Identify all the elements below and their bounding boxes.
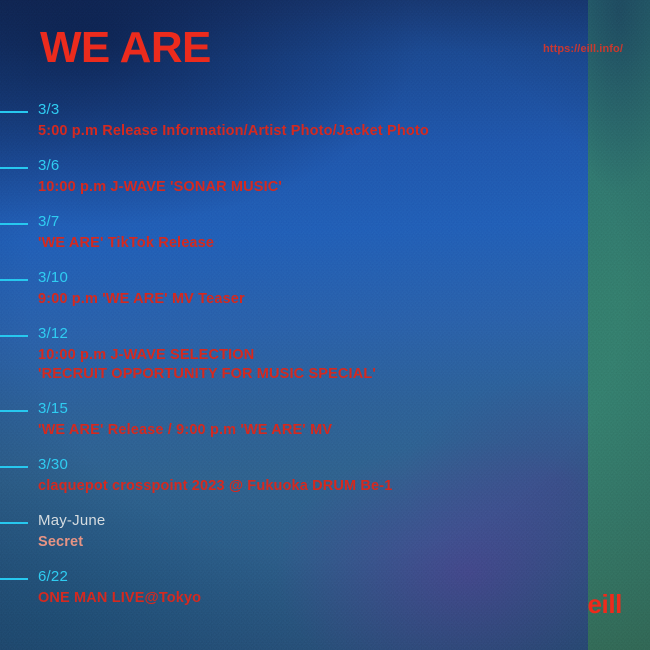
schedule-entry-text: claquepot crosspoint 2023 @ Fukuoka DRUM… — [38, 477, 650, 496]
schedule-entry: 3/109:00 p.m 'WE ARE' MV Teaser — [0, 268, 650, 309]
schedule-entry-lines: 10:00 p.m J-WAVE 'SONAR MUSIC' — [0, 178, 650, 197]
schedule-date: 3/7 — [38, 212, 59, 232]
schedule-entry: 3/30claquepot crosspoint 2023 @ Fukuoka … — [0, 455, 650, 496]
schedule-entry-header: 3/6 — [0, 156, 650, 176]
schedule-entry-lines: Secret — [0, 533, 650, 552]
dash-marker-icon — [0, 111, 28, 113]
schedule-entry: 6/22ONE MAN LIVE@Tokyo — [0, 567, 650, 608]
schedule-date: 3/12 — [38, 324, 68, 344]
schedule-entry-text: 10:00 p.m J-WAVE SELECTION — [38, 346, 650, 365]
schedule-entry-lines: 9:00 p.m 'WE ARE' MV Teaser — [0, 290, 650, 309]
dash-marker-icon — [0, 522, 28, 524]
schedule-entry-text: 'WE ARE' TikTok Release — [38, 234, 650, 253]
schedule-entry-text: Secret — [38, 533, 650, 552]
poster-content: WE ARE https://eill.info/ 3/35:00 p.m Re… — [0, 0, 650, 650]
dash-marker-icon — [0, 167, 28, 169]
schedule-date: 3/15 — [38, 399, 68, 419]
schedule-entry: 3/1210:00 p.m J-WAVE SELECTION'RECRUIT O… — [0, 324, 650, 384]
schedule-entry-text: 'WE ARE' Release / 9:00 p.m 'WE ARE' MV — [38, 421, 650, 440]
dash-marker-icon — [0, 466, 28, 468]
schedule-entry: 3/7'WE ARE' TikTok Release — [0, 212, 650, 253]
dash-marker-icon — [0, 410, 28, 412]
schedule-entry-lines: 10:00 p.m J-WAVE SELECTION'RECRUIT OPPOR… — [0, 346, 650, 384]
schedule-entry-header: 3/3 — [0, 100, 650, 120]
schedule-entry: May-JuneSecret — [0, 511, 650, 552]
schedule-date: 3/30 — [38, 455, 68, 475]
schedule-entry-text: 5:00 p.m Release Information/Artist Phot… — [38, 122, 650, 141]
schedule-entry-lines: ONE MAN LIVE@Tokyo — [0, 589, 650, 608]
schedule-entry-lines: claquepot crosspoint 2023 @ Fukuoka DRUM… — [0, 477, 650, 496]
dash-marker-icon — [0, 578, 28, 580]
schedule-entry-lines: 5:00 p.m Release Information/Artist Phot… — [0, 122, 650, 141]
website-url-link[interactable]: https://eill.info/ — [543, 43, 623, 55]
schedule-date: 3/3 — [38, 100, 59, 120]
schedule-entry: 3/610:00 p.m J-WAVE 'SONAR MUSIC' — [0, 156, 650, 197]
schedule-entry-header: 3/15 — [0, 399, 650, 419]
schedule-entry-header: May-June — [0, 511, 650, 531]
schedule-date: 6/22 — [38, 567, 68, 587]
schedule-entry-header: 3/30 — [0, 455, 650, 475]
dash-marker-icon — [0, 335, 28, 337]
artist-logo: eill — [587, 591, 622, 617]
schedule-date: May-June — [38, 511, 105, 531]
schedule-date: 3/6 — [38, 156, 59, 176]
schedule-list: 3/35:00 p.m Release Information/Artist P… — [0, 100, 650, 623]
schedule-entry-header: 3/12 — [0, 324, 650, 344]
poster-canvas: WE ARE https://eill.info/ 3/35:00 p.m Re… — [0, 0, 650, 650]
page-title: WE ARE — [40, 26, 211, 70]
schedule-entry-text: 'RECRUIT OPPORTUNITY FOR MUSIC SPECIAL' — [38, 365, 650, 384]
schedule-entry: 3/35:00 p.m Release Information/Artist P… — [0, 100, 650, 141]
schedule-entry: 3/15'WE ARE' Release / 9:00 p.m 'WE ARE'… — [0, 399, 650, 440]
schedule-entry-text: ONE MAN LIVE@Tokyo — [38, 589, 650, 608]
schedule-entry-text: 10:00 p.m J-WAVE 'SONAR MUSIC' — [38, 178, 650, 197]
schedule-entry-header: 6/22 — [0, 567, 650, 587]
schedule-entry-lines: 'WE ARE' Release / 9:00 p.m 'WE ARE' MV — [0, 421, 650, 440]
schedule-date: 3/10 — [38, 268, 68, 288]
schedule-entry-text: 9:00 p.m 'WE ARE' MV Teaser — [38, 290, 650, 309]
schedule-entry-header: 3/10 — [0, 268, 650, 288]
schedule-entry-lines: 'WE ARE' TikTok Release — [0, 234, 650, 253]
dash-marker-icon — [0, 223, 28, 225]
dash-marker-icon — [0, 279, 28, 281]
schedule-entry-header: 3/7 — [0, 212, 650, 232]
